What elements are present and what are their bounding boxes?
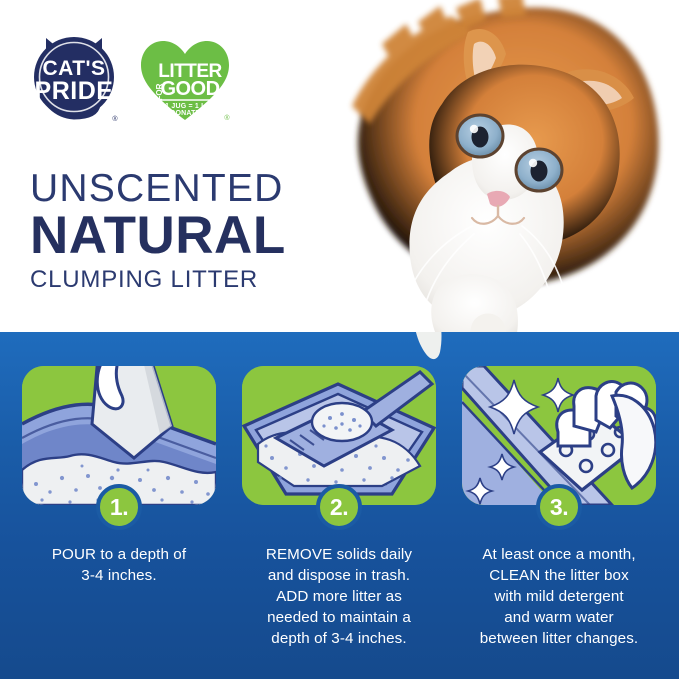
step-2-caption: REMOVE solids daily and dispose in trash… [232,544,446,649]
caption-line: between litter changes. [452,628,666,649]
headline-line-natural: NATURAL [30,208,286,264]
step-1-caption: POUR to a depth of 3-4 inches. [12,544,226,586]
step-1-badge: 1. [96,484,142,530]
caption-line: ADD more litter as [232,586,446,607]
instructions-band: 1. POUR to a depth of 3-4 inches. [0,332,679,679]
heart-line2: GOOD [160,78,219,100]
product-info-graphic: CAT'S PRIDE ® LITTER GOOD FOR 1 JUG = 1 … [0,0,679,679]
caption-line: and warm water [452,607,666,628]
caption-line: CLEAN the litter box [452,565,666,586]
caption-line: At least once a month, [452,544,666,565]
headline-line-unscented: UNSCENTED [30,168,286,210]
caption-line: depth of 3-4 inches. [232,628,446,649]
product-headline: UNSCENTED NATURAL CLUMPING LITTER [30,168,286,294]
caption-line: and dispose in trash. [232,565,446,586]
steps-row: 1. POUR to a depth of 3-4 inches. [0,332,679,679]
step-1: 1. POUR to a depth of 3-4 inches. [22,366,216,505]
headline-line-clumping-litter: CLUMPING LITTER [30,266,286,294]
step-3-badge: 3. [536,484,582,530]
caption-line: REMOVE solids daily [232,544,446,565]
step-3-caption: At least once a month, CLEAN the litter … [452,544,666,649]
step-2-badge: 2. [316,484,362,530]
caption-line: POUR to a depth of [12,544,226,565]
heart-for-label: FOR [155,83,164,100]
cat-photo [322,0,679,336]
heart-sub-line1: 1 JUG = 1 LB [165,103,211,110]
caption-line: with mild detergent [452,586,666,607]
heart-registered-mark-icon: ® [224,114,230,122]
heart-sub-line2: DONATED [170,110,206,117]
logo-line2: PRIDE [35,77,114,105]
caption-line: needed to maintain a [232,607,446,628]
cats-pride-logo: CAT'S PRIDE ® [24,28,124,128]
step-3: 3. At least once a month, CLEAN the litt… [462,366,656,505]
litter-for-good-logo: LITTER GOOD FOR 1 JUG = 1 LB DONATED ® [137,36,233,124]
hero-section: CAT'S PRIDE ® LITTER GOOD FOR 1 JUG = 1 … [0,0,679,336]
caption-line: 3-4 inches. [12,565,226,586]
step-2: 2. REMOVE solids daily and dispose in tr… [242,366,436,505]
registered-mark-icon: ® [112,115,118,123]
